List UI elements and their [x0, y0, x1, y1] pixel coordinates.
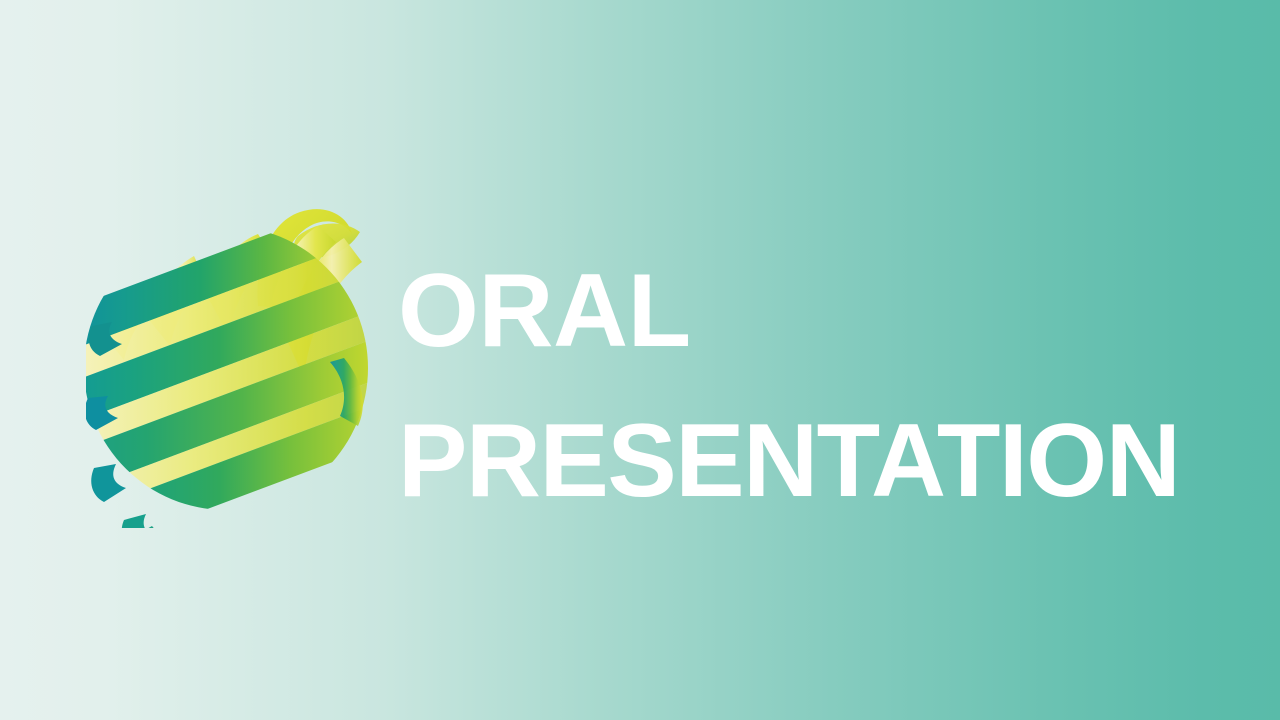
title-line-presentation: PRESENTATION — [398, 386, 1228, 536]
spiral-ribbon-globe-logo — [86, 198, 386, 528]
globe-lower-ribbons — [138, 526, 346, 528]
presentation-slide: ORAL PRESENTATION — [0, 0, 1280, 720]
slide-title-block: ORAL PRESENTATION — [398, 236, 1228, 536]
title-line-oral: ORAL — [398, 236, 1228, 386]
